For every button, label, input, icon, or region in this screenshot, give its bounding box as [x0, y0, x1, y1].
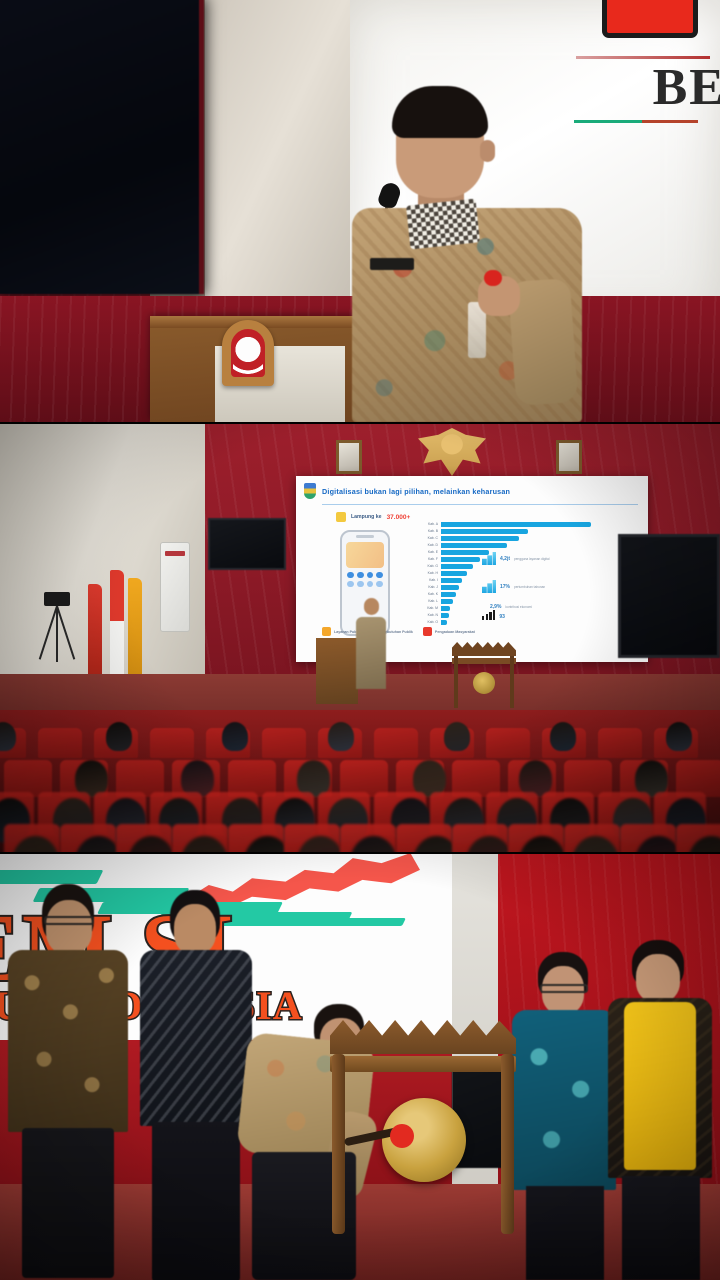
stat-text: pengguna layanan digital: [514, 557, 549, 561]
footer-label: Kebutuhan Publik: [382, 630, 413, 634]
gong-frame-leg: [454, 656, 458, 708]
indonesian-flag: [110, 570, 124, 676]
guest-yellow-vest: [608, 940, 712, 1280]
bar: [441, 606, 450, 611]
bar-chart-icon: [482, 580, 496, 593]
projected-slide: Digitalisasi bukan lagi pilihan, melaink…: [296, 476, 648, 662]
bar-label: Kab. F: [404, 558, 438, 561]
slide-stat: 4,2jt pengguna layanan digital: [482, 552, 549, 565]
university-crest-icon: [222, 320, 274, 386]
bar-label: Kab. G: [404, 565, 438, 568]
ac-vent: [165, 551, 185, 556]
panel-auditorium-wide-shot: Digitalisasi bukan lagi pilihan, melaink…: [0, 424, 720, 852]
ceremonial-gong: [330, 1020, 516, 1234]
provincial-crest-icon: [304, 483, 316, 499]
bar-label: Kab. L: [404, 600, 438, 603]
slide-title: Digitalisasi bukan lagi pilihan, melaink…: [322, 487, 510, 496]
bar-label: Kab. C: [404, 537, 438, 540]
bar-row: Kab. A: [404, 522, 604, 527]
stat-text: kontribusi ekonomi: [505, 605, 532, 609]
vice-president-portrait: [556, 440, 582, 474]
slide-header: Digitalisasi bukan lagi pilihan, melaink…: [296, 476, 648, 506]
head: [174, 904, 216, 954]
head: [364, 598, 379, 615]
audience-member: [666, 722, 692, 751]
ear: [480, 140, 495, 162]
stage-podium: [316, 638, 358, 704]
layanan-publik-icon: [322, 627, 331, 636]
bar-chart-up-icon: [482, 552, 496, 565]
phone-notch: [356, 535, 374, 538]
speaker-person: [352, 84, 582, 422]
gong-disc-icon: [473, 672, 495, 694]
gong-frame-bar: [330, 1056, 516, 1072]
bar-label: Kab. A: [404, 523, 438, 526]
theater-seat: [38, 728, 82, 758]
yellow-vest: [624, 1002, 696, 1170]
wall-television-right: [618, 534, 720, 658]
bar: [441, 564, 473, 569]
bar: [441, 536, 519, 541]
panel-divider: [0, 422, 720, 424]
gong-frame-crown: [330, 1020, 516, 1054]
bar: [441, 585, 459, 590]
trousers: [22, 1128, 114, 1278]
red-marker-icon: [484, 270, 502, 286]
app-icon: [376, 581, 383, 587]
theater-seat: [150, 728, 194, 758]
theater-seat: [374, 728, 418, 758]
screen-accent-line: [574, 120, 698, 123]
gong-mallet-head-icon: [390, 1124, 414, 1148]
head: [636, 954, 680, 1002]
eyeglasses-icon: [44, 916, 94, 925]
bar: [441, 571, 467, 576]
gong-frame-bar: [452, 658, 516, 664]
kpi-label: Lampung ke: [351, 514, 382, 520]
theater-seat: [262, 728, 306, 758]
bar-label: Kab. O: [404, 621, 438, 624]
bar-label: Kab. H: [404, 572, 438, 575]
gong-frame-leg: [501, 1054, 514, 1234]
app-icon: [347, 581, 354, 587]
trousers: [622, 1176, 700, 1280]
theater-seat: [598, 728, 642, 758]
audience-member: [328, 722, 354, 751]
gong-frame-crown: [452, 642, 516, 656]
backdrop-stripe: [0, 870, 103, 884]
checkered-collar: [406, 198, 480, 249]
brown-batik-shirt: [8, 950, 128, 1132]
guest-brown-batik: [8, 884, 128, 1280]
head: [46, 900, 92, 954]
bar: [441, 578, 462, 583]
audience-member: [106, 722, 132, 751]
bar-label: Kab. M: [404, 607, 438, 610]
name-badge: [370, 258, 414, 270]
theater-seat: [486, 728, 530, 758]
bar-row: Kab. C: [404, 536, 604, 541]
provincial-flag: [88, 584, 102, 676]
wall-television-left: [208, 518, 286, 570]
bar-row: Kab. H: [404, 571, 604, 576]
presenter-person: [356, 598, 386, 704]
stat-value: 17%: [500, 584, 510, 590]
bar-label: Kab. D: [404, 544, 438, 547]
slide-kpi: Lampung ke 37.000+: [336, 512, 410, 522]
bar-row: Kab. O: [404, 620, 604, 625]
guest-teal-batik: [512, 952, 616, 1280]
signal-value: 93: [499, 614, 505, 620]
bar: [441, 522, 591, 527]
stat-text: pertumbuhan tahunan: [514, 585, 545, 589]
audience-seating: [0, 710, 720, 852]
audience-member: [550, 722, 576, 751]
bar: [441, 557, 480, 562]
app-icon-grid: [347, 572, 383, 587]
audience-member: [0, 722, 16, 751]
app-icon: [357, 572, 364, 578]
app-hero-banner: [346, 542, 384, 568]
photo-collage: BE: [0, 0, 720, 1280]
bar-label: Kab. B: [404, 530, 438, 533]
bar-label: Kab. K: [404, 593, 438, 596]
app-icon: [367, 581, 374, 587]
bar-label: Kab. I: [404, 579, 438, 582]
footer-label: Pengaduan Masyarakat: [435, 630, 475, 634]
flat-screen-television: [0, 0, 204, 294]
bar: [441, 599, 453, 604]
camera-tripod: [44, 592, 72, 662]
organization-flag: [128, 578, 142, 676]
panel-divider: [0, 852, 720, 854]
kpi-value: 37.000+: [387, 514, 411, 521]
bar: [441, 620, 447, 625]
trousers: [526, 1186, 604, 1280]
bar-row: Kab. D: [404, 543, 604, 548]
gong-frame-leg: [510, 656, 514, 708]
star-icon: [336, 512, 346, 522]
bar-row: Kab. B: [404, 529, 604, 534]
gong-frame-leg: [332, 1054, 345, 1234]
slide-stat: 17% pertumbuhan tahunan: [482, 580, 545, 593]
footer-item: Layanan Publik: [322, 627, 360, 636]
bar: [441, 613, 449, 618]
audience-member: [222, 722, 248, 751]
crest-inner: [231, 329, 265, 377]
app-icon: [347, 572, 354, 578]
bar-label: Kab. N: [404, 614, 438, 617]
hair: [392, 86, 488, 138]
app-icon: [357, 581, 364, 587]
video-camera-icon: [44, 592, 70, 606]
ceremonial-gong-stand: [452, 642, 516, 708]
bar: [441, 543, 507, 548]
stat-value: 4,2jt: [500, 556, 510, 562]
pengaduan-masyarakat-icon: [423, 627, 432, 636]
slide-title-underline: [322, 504, 638, 505]
bar: [441, 529, 528, 534]
teal-batik-shirt: [512, 1010, 616, 1190]
logo-red-block-icon: [602, 0, 698, 38]
standing-air-conditioner: [160, 542, 190, 632]
screen-text-partial: BE: [653, 62, 720, 114]
app-icon: [367, 572, 374, 578]
president-portrait: [336, 440, 362, 474]
bar: [441, 592, 456, 597]
trousers: [152, 1122, 240, 1280]
signal-bars-icon: 93: [482, 610, 505, 620]
footer-item: Pengaduan Masyarakat: [423, 627, 475, 636]
panel-gong-ceremony: EM SI RUH INDONESIA: [0, 854, 720, 1280]
bar-label: Kab. J: [404, 586, 438, 589]
eyeglasses-icon: [540, 984, 588, 993]
body: [356, 617, 386, 689]
bar-label: Kab. E: [404, 551, 438, 554]
app-icon: [376, 572, 383, 578]
audience-member: [444, 722, 470, 751]
panel-speaker-at-podium: BE: [0, 0, 720, 422]
